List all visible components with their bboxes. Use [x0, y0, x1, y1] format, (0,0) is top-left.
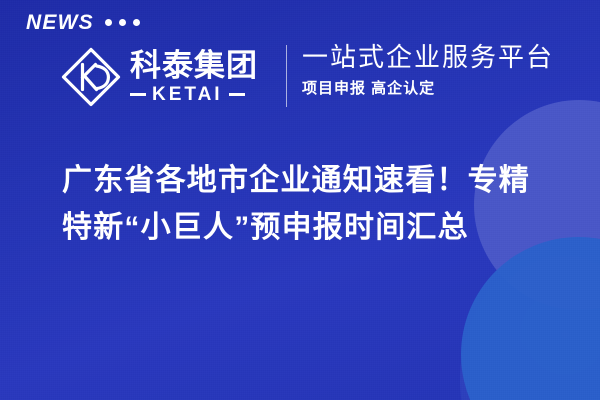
brand-name-en: KETAI: [152, 85, 223, 104]
ketai-diamond-monogram-icon: [58, 44, 124, 110]
headline-line: 特新“小巨人”预申报时间汇总: [62, 204, 562, 251]
bullet-dot-icon: [133, 19, 140, 26]
bullet-dot-icon: [119, 19, 126, 26]
brand-lockup: 科泰集团 KETAI: [58, 44, 258, 110]
vertical-divider-icon: [286, 45, 287, 107]
news-eyebrow: NEWS: [26, 12, 140, 33]
brand-wordmark: 科泰集团 KETAI: [130, 50, 258, 104]
background-glow-circle: [460, 230, 600, 400]
headline-line: 广东省各地市企业通知速看！专精: [62, 157, 562, 204]
tagline-block: 一站式企业服务平台 项目申报 高企认定: [302, 42, 554, 98]
page-title: 广东省各地市企业通知速看！专精 特新“小巨人”预申报时间汇总: [62, 157, 562, 251]
news-dots: [105, 19, 140, 26]
bullet-dot-icon: [105, 19, 112, 26]
horizontal-rule-icon: [130, 93, 146, 96]
news-label: NEWS: [26, 12, 94, 33]
background-azure-circle: [461, 237, 600, 400]
tagline-sub: 项目申报 高企认定: [302, 77, 554, 98]
horizontal-rule-icon: [229, 93, 245, 96]
news-banner: NEWS 科泰集团: [0, 0, 600, 400]
brand-name-en-row: KETAI: [130, 85, 258, 104]
tagline-main: 一站式企业服务平台: [302, 42, 554, 73]
brand-name-cn: 科泰集团: [130, 50, 258, 83]
